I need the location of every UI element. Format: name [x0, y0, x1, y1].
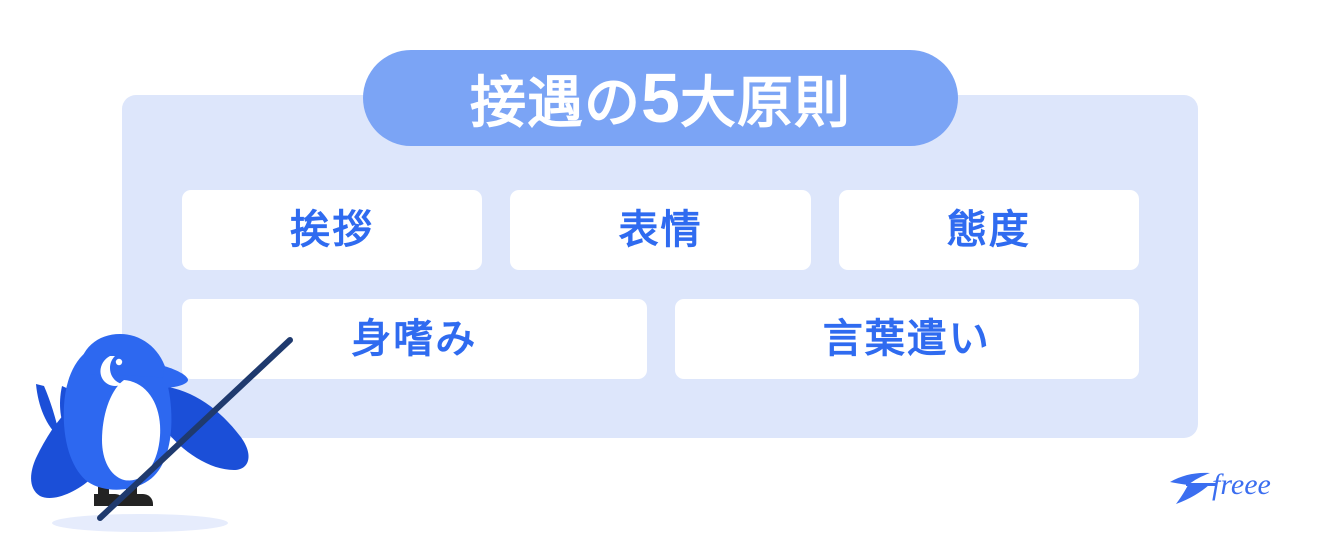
principle-label: 言葉遣い	[823, 319, 991, 359]
principle-card-expression: 表情	[510, 190, 810, 270]
principle-card-attitude: 態度	[839, 190, 1139, 270]
brand-logo: freee	[1168, 462, 1290, 506]
infographic-canvas: 接遇の 5 大原則 挨拶 表情 態度 身嗜み 言葉遣い	[0, 0, 1320, 540]
swallow-bird-icon	[1170, 473, 1216, 504]
brand-name: freee	[1212, 468, 1271, 501]
principle-card-greeting: 挨拶	[182, 190, 482, 270]
principle-row-2: 身嗜み 言葉遣い	[182, 299, 1139, 379]
page-title: 接遇の 5 大原則	[470, 63, 851, 133]
principle-label: 身嗜み	[351, 319, 477, 359]
penguin-mascot-icon	[22, 318, 322, 533]
principle-card-language: 言葉遣い	[675, 299, 1140, 379]
title-suffix: 大原則	[680, 75, 851, 131]
title-prefix: 接遇の	[470, 75, 641, 131]
title-badge: 接遇の 5 大原則	[363, 50, 958, 146]
title-number: 5	[641, 63, 680, 133]
principle-row-1: 挨拶 表情 態度	[182, 190, 1139, 270]
principle-label: 態度	[947, 210, 1031, 250]
principle-label: 挨拶	[290, 210, 374, 250]
principle-label: 表情	[618, 210, 702, 250]
